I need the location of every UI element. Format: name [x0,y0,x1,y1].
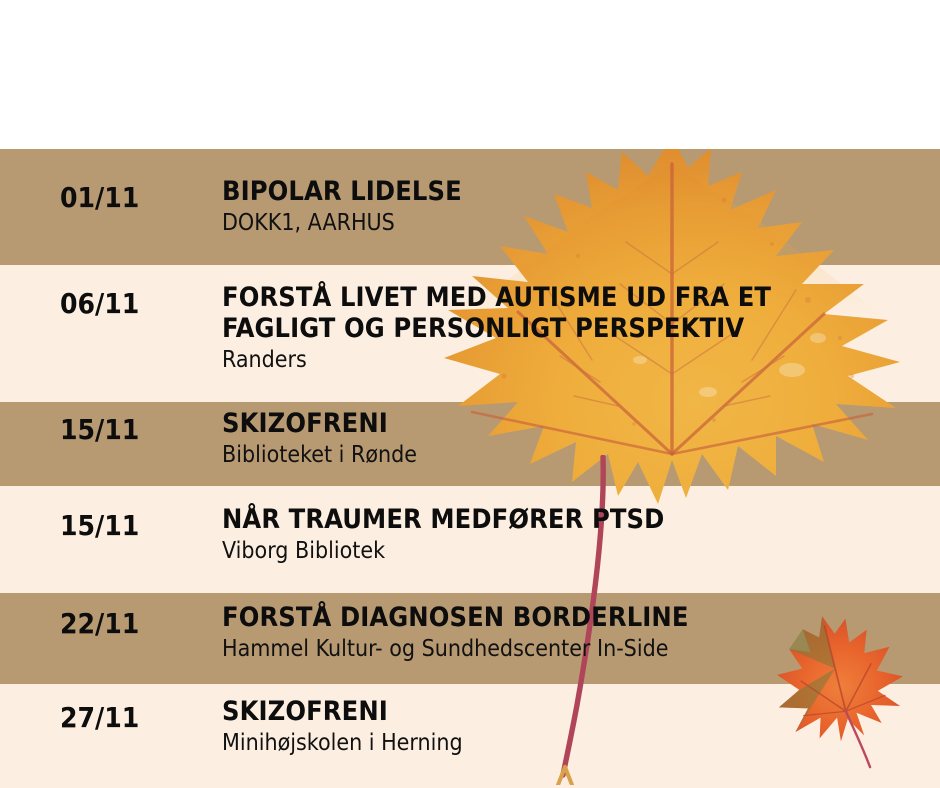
event-title: BIPOLAR LIDELSE [222,176,930,207]
event-date: 15/11 [60,413,210,446]
event-row[interactable]: 01/11 BIPOLAR LIDELSE DOKK1, AARHUS [0,149,940,265]
event-body: NÅR TRAUMER MEDFØRER PTSD Viborg Bibliot… [222,504,930,566]
event-title: FORSTÅ DIAGNOSEN BORDERLINE [222,602,930,633]
event-venue: Biblioteket i Rønde [222,442,930,470]
event-row[interactable]: 22/11 FORSTÅ DIAGNOSEN BORDERLINE Hammel… [0,593,940,684]
event-body: BIPOLAR LIDELSE DOKK1, AARHUS [222,176,930,238]
event-body: SKIZOFRENI Biblioteket i Rønde [222,408,930,470]
event-venue: Minihøjskolen i Herning [222,730,930,758]
event-body: SKIZOFRENI Minihøjskolen i Herning [222,696,930,758]
event-title: SKIZOFRENI [222,696,930,727]
event-title: SKIZOFRENI [222,408,930,439]
event-date: 27/11 [60,701,210,734]
event-title: FORSTÅ LIVET MED AUTISME UD FRA ET FAGLI… [222,282,930,344]
event-body: FORSTÅ LIVET MED AUTISME UD FRA ET FAGLI… [222,282,930,375]
title-area [0,0,940,149]
event-row[interactable]: 27/11 SKIZOFRENI Minihøjskolen i Herning [0,684,940,788]
event-date: 06/11 [60,287,210,320]
event-row[interactable]: 15/11 NÅR TRAUMER MEDFØRER PTSD Viborg B… [0,486,940,593]
event-row[interactable]: 06/11 FORSTÅ LIVET MED AUTISME UD FRA ET… [0,265,940,402]
event-venue: Hammel Kultur- og Sundhedscenter In-Side [222,636,930,664]
event-date: 01/11 [60,181,210,214]
event-venue: DOKK1, AARHUS [222,210,930,238]
poster-canvas: Temaaftener i november 01/11 BIPOLAR LID… [0,0,940,788]
event-title: NÅR TRAUMER MEDFØRER PTSD [222,504,930,535]
event-venue: Viborg Bibliotek [222,538,930,566]
event-row[interactable]: 15/11 SKIZOFRENI Biblioteket i Rønde [0,402,940,486]
event-venue: Randers [222,347,930,375]
event-date: 15/11 [60,509,210,542]
event-date: 22/11 [60,607,210,640]
event-body: FORSTÅ DIAGNOSEN BORDERLINE Hammel Kultu… [222,602,930,664]
